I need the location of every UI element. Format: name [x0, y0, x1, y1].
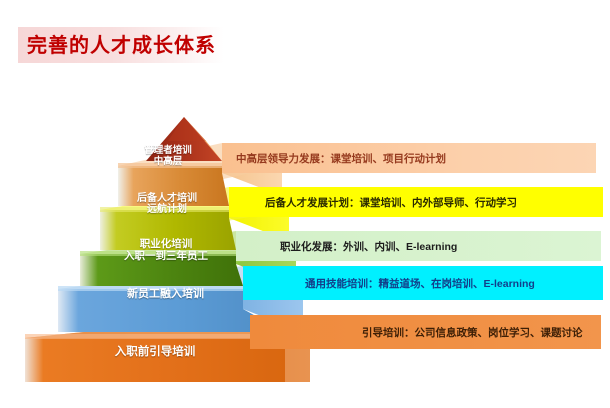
- description-bar-3-text: 职业化发展：外训、内训、E-learning: [280, 239, 457, 254]
- description-bar-5-text: 引导培训：公司信息政策、岗位学习、课题讨论: [362, 325, 583, 340]
- description-bar-1[interactable]: 中高层领导力发展：课堂培训、项目行动计划: [222, 143, 596, 173]
- description-bar-3[interactable]: 职业化发展：外训、内训、E-learning: [236, 231, 601, 261]
- description-bar-2[interactable]: 后备人才发展计划：课堂培训、内外部导师、行动学习: [229, 187, 603, 217]
- slide-canvas: 完善的人才成长体系: [0, 0, 610, 408]
- description-bar-4[interactable]: 通用技能培训：精益道场、在岗培训、E-learning: [243, 266, 603, 300]
- description-bar-4-text: 通用技能培训：精益道场、在岗培训、E-learning: [305, 276, 535, 291]
- description-bar-1-text: 中高层领导力发展：课堂培训、项目行动计划: [236, 151, 446, 166]
- description-bar-2-text: 后备人才发展计划：课堂培训、内外部导师、行动学习: [265, 195, 517, 210]
- description-bar-5[interactable]: 引导培训：公司信息政策、岗位学习、课题讨论: [250, 315, 601, 349]
- pyramid-apex[interactable]: [146, 117, 222, 161]
